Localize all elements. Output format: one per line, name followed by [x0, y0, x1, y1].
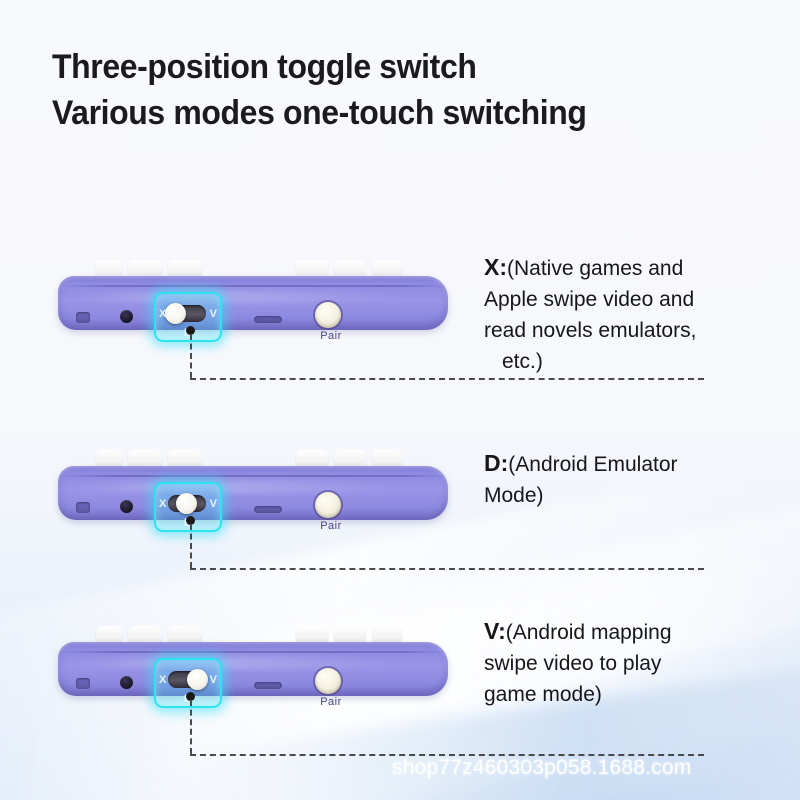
device-illustration-x: X V D Pair	[58, 256, 448, 330]
description-text: (Android mapping	[506, 621, 672, 644]
pair-button-group[interactable]: Pair	[305, 668, 357, 712]
switch-knob[interactable]	[165, 303, 186, 324]
speaker-slot-icon	[254, 682, 282, 689]
pair-button-label: Pair	[305, 696, 357, 708]
title-line-2: Various modes one-touch switching	[52, 90, 729, 136]
mode-description-v: V:(Android mapping swipe video to play g…	[484, 616, 784, 710]
callout-horizontal-line	[190, 568, 704, 570]
pair-button-group[interactable]: Pair	[305, 302, 357, 346]
description-line: Mode)	[484, 480, 784, 511]
switch-label-left: X	[159, 498, 166, 510]
body-gloss	[68, 480, 408, 493]
infographic-page: Three-position toggle switch Various mod…	[0, 0, 800, 800]
description-text: (Native games and	[507, 257, 683, 280]
body-seam-line	[60, 475, 446, 477]
switch-knob[interactable]	[187, 669, 208, 690]
switch-label-right: V	[210, 674, 217, 686]
switch-label-right: V	[210, 308, 217, 320]
description-line: swipe video to play	[484, 648, 784, 679]
description-line: D:(Android Emulator	[484, 448, 784, 480]
speaker-slot-icon	[254, 316, 282, 323]
watermark-text: shop77z460303p058.1688.com	[392, 756, 691, 780]
callout-vertical-line	[190, 700, 192, 754]
pair-button[interactable]	[315, 302, 341, 328]
mode-description-x: X:(Native games and Apple swipe video an…	[484, 252, 784, 377]
device-illustration-d: X V D Pair	[58, 446, 448, 520]
device-body: X V D Pair	[58, 466, 448, 520]
mode-key-v: V:	[484, 618, 506, 644]
callout-vertical-line	[190, 524, 192, 568]
microphone-hole-icon	[120, 310, 133, 323]
device-body: X V D Pair	[58, 276, 448, 330]
usb-port-icon	[76, 502, 90, 513]
body-seam-line	[60, 285, 446, 287]
mode-key-x: X:	[484, 254, 507, 280]
body-gloss	[68, 656, 408, 669]
body-gloss	[68, 290, 408, 303]
description-line: X:(Native games and	[484, 252, 784, 284]
description-line: Apple swipe video and	[484, 284, 784, 315]
description-line: etc.)	[484, 346, 784, 377]
pair-button-group[interactable]: Pair	[305, 492, 357, 536]
usb-port-icon	[76, 678, 90, 689]
description-line: V:(Android mapping	[484, 616, 784, 648]
callout-horizontal-line	[190, 378, 704, 380]
pair-button[interactable]	[315, 668, 341, 694]
description-line: read novels emulators,	[484, 315, 784, 346]
mode-key-d: D:	[484, 450, 508, 476]
microphone-hole-icon	[120, 676, 133, 689]
description-line: game mode)	[484, 679, 784, 710]
pair-button-label: Pair	[305, 330, 357, 342]
usb-port-icon	[76, 312, 90, 323]
pair-button[interactable]	[315, 492, 341, 518]
switch-label-left: X	[159, 674, 166, 686]
device-body: X V D Pair	[58, 642, 448, 696]
title-line-1: Three-position toggle switch	[52, 44, 729, 90]
switch-label-right: V	[210, 498, 217, 510]
speaker-slot-icon	[254, 506, 282, 513]
page-title: Three-position toggle switch Various mod…	[52, 44, 772, 136]
microphone-hole-icon	[120, 500, 133, 513]
device-illustration-v: X V D Pair	[58, 622, 448, 696]
callout-vertical-line	[190, 334, 192, 378]
mode-description-d: D:(Android Emulator Mode)	[484, 448, 784, 511]
pair-button-label: Pair	[305, 520, 357, 532]
switch-knob[interactable]	[176, 493, 197, 514]
switch-label-left: X	[159, 308, 166, 320]
body-seam-line	[60, 651, 446, 653]
description-text: (Android Emulator	[508, 453, 677, 476]
